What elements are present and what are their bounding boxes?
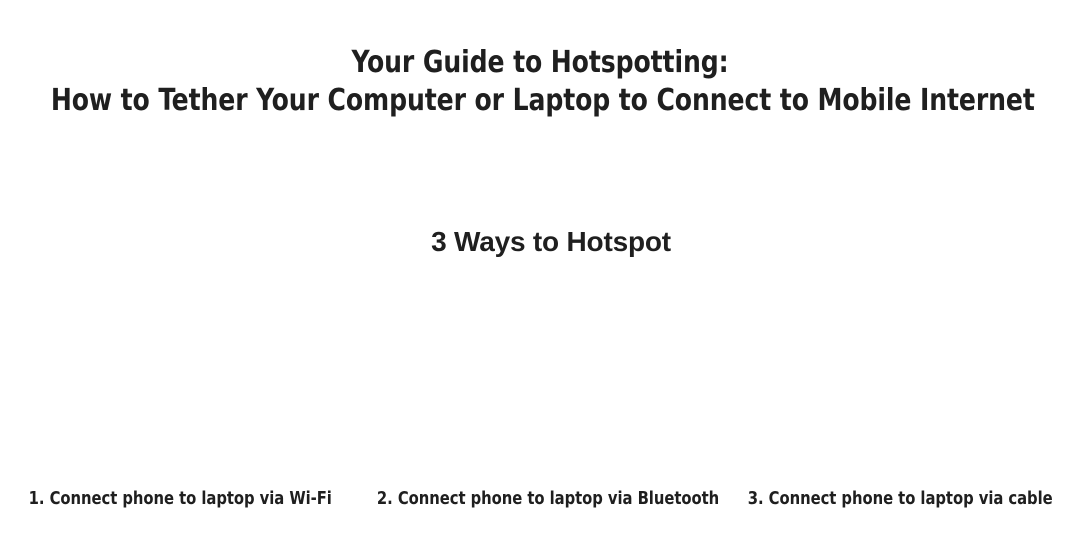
method-caption-row: 1. Connect phone to laptop via Wi-Fi 2. … <box>0 487 1080 511</box>
method-figure-cell-1 <box>0 282 360 478</box>
article-headline: Your Guide to Hotspotting: How to Tether… <box>0 44 1080 120</box>
method-caption-cell-2: 2. Connect phone to laptop via Bluetooth <box>360 487 720 511</box>
article-page: Your Guide to Hotspotting: How to Tether… <box>0 0 1080 552</box>
method-figure-cell-3 <box>720 282 1080 478</box>
method-caption-bluetooth: 2. Connect phone to laptop via Bluetooth <box>377 487 719 511</box>
method-figure-row <box>0 282 1080 478</box>
headline-line-2: How to Tether Your Computer or Laptop to… <box>51 82 1029 120</box>
method-figure-cell-2 <box>360 282 720 478</box>
method-caption-wifi: 1. Connect phone to laptop via Wi-Fi <box>28 487 331 511</box>
method-caption-cell-3: 3. Connect phone to laptop via cable <box>720 487 1080 511</box>
headline-line-1: Your Guide to Hotspotting: <box>51 44 1029 82</box>
section-subtitle: 3 Ways to Hotspot <box>0 224 1080 260</box>
method-caption-cell-1: 1. Connect phone to laptop via Wi-Fi <box>0 487 360 511</box>
method-caption-cable: 3. Connect phone to laptop via cable <box>748 487 1053 511</box>
